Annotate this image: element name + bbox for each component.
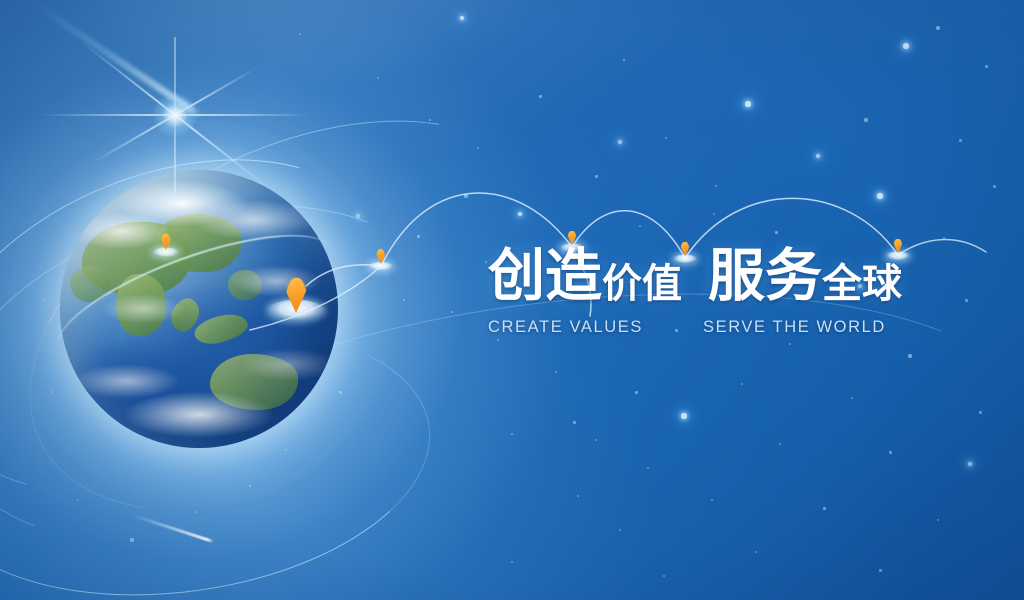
subline-english-one: CREATE VALUES (488, 318, 703, 337)
headline-secondary-two: 全球 (822, 264, 902, 305)
subline-english-two: SERVE THE WORLD (703, 318, 886, 337)
subline-row: CREATE VALUES SERVE THE WORLD (488, 318, 918, 337)
headline-primary-two: 服务 (708, 248, 822, 305)
headline-secondary-one: 价值 (602, 264, 682, 305)
headline-block: 创造 价值 服务 全球 CREATE VALUES SERVE THE WORL… (488, 248, 918, 337)
banner-root: 创造 价值 服务 全球 CREATE VALUES SERVE THE WORL… (0, 0, 1024, 600)
headline-primary-one: 创造 (488, 248, 602, 305)
headline-row: 创造 价值 服务 全球 (488, 248, 918, 305)
